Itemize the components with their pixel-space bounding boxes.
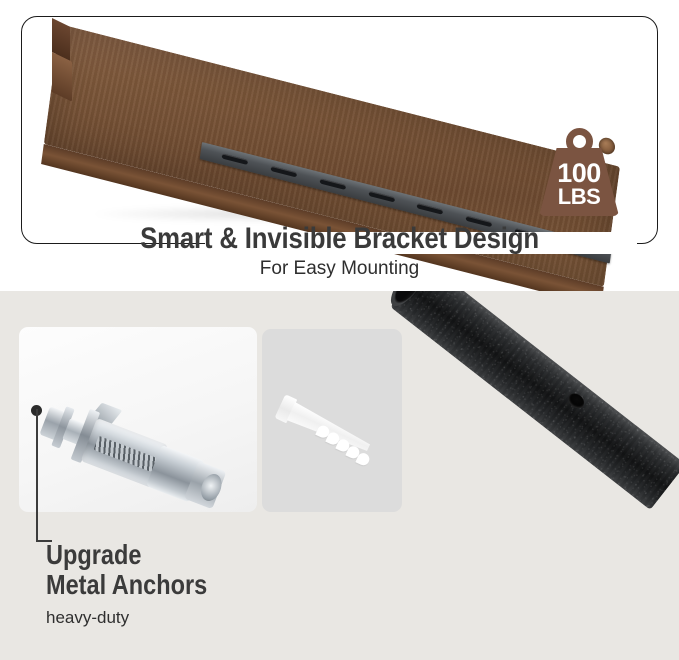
callout-left-title-line1: Upgrade xyxy=(46,540,281,570)
bracket-slot xyxy=(271,166,298,177)
weight-capacity-value: 100 xyxy=(557,161,601,186)
iron-pipe-illustration xyxy=(380,291,679,660)
metal-anchor-photo-tile xyxy=(19,327,257,512)
bracket-slot xyxy=(417,203,444,214)
weight-capacity-unit: LBS xyxy=(558,186,601,208)
top-feature-panel: 100 LBS Smart & Invisible Bracket Design… xyxy=(0,0,679,291)
bottom-feature-panel: VS Upgrade Metal Anchors heavy-duty Made… xyxy=(0,291,679,660)
iron-pipe-texture xyxy=(390,291,679,510)
weight-icon-body: 100 LBS xyxy=(539,148,619,216)
bracket-slot xyxy=(319,179,346,190)
plastic-anchor-body xyxy=(287,402,373,456)
callout-left-title-line2: Metal Anchors xyxy=(46,570,281,600)
callout-left-subtitle: heavy-duty xyxy=(46,608,326,628)
callout-left-text-block: Upgrade Metal Anchors heavy-duty xyxy=(46,540,326,628)
feature-subheadline: For Easy Mounting xyxy=(0,258,679,280)
weight-capacity-badge: 100 LBS xyxy=(537,128,621,216)
callout-left-leader-line xyxy=(36,409,38,542)
metal-sleeve-anchor-illustration xyxy=(27,382,237,536)
iron-pipe-body xyxy=(390,291,679,510)
bracket-slot xyxy=(368,191,395,202)
feature-headline: Smart & Invisible Bracket Design xyxy=(48,222,632,256)
plastic-wall-anchor-illustration xyxy=(274,392,394,469)
bracket-slot xyxy=(222,154,249,165)
